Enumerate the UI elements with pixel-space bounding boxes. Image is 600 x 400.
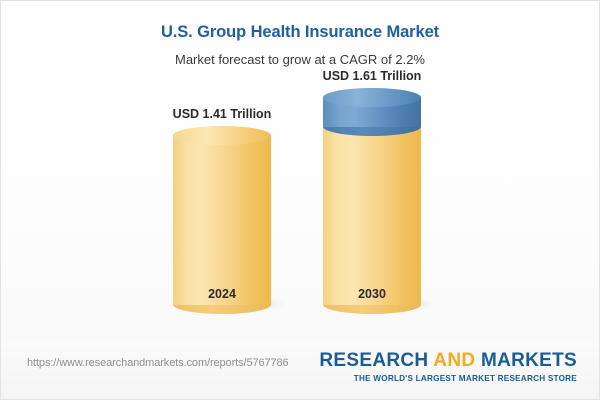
chart-header: U.S. Group Health Insurance Market Marke…: [1, 21, 599, 70]
footer-bar: https://www.researchandmarkets.com/repor…: [1, 341, 599, 399]
bar-segment-base-2030: [323, 127, 421, 305]
cylinder-2030: [323, 97, 421, 305]
chart-plot-area: USD 1.41 Trillion 2024 USD 1.61 Trillion: [1, 89, 600, 341]
cylinder-2024: [173, 135, 271, 305]
chart-title: U.S. Group Health Insurance Market: [1, 21, 599, 43]
logo-word-research: RESEARCH: [319, 350, 433, 371]
bar-segment-base-2024: [173, 135, 271, 305]
infographic-card: U.S. Group Health Insurance Market Marke…: [0, 0, 600, 400]
source-url[interactable]: https://www.researchandmarkets.com/repor…: [27, 357, 289, 369]
logo-wordmark: RESEARCH AND MARKETS: [319, 350, 577, 372]
logo-tagline: THE WORLD'S LARGEST MARKET RESEARCH STOR…: [319, 373, 577, 385]
blue-cap-top-2030: [323, 88, 421, 107]
category-label-2030: 2030: [358, 287, 386, 301]
value-label-2024: USD 1.41 Trillion: [173, 107, 272, 121]
cylinder-body-2024: [173, 135, 271, 305]
logo-word-markets: MARKETS: [475, 350, 577, 371]
logo-word-and: AND: [433, 350, 475, 371]
value-label-2030: USD 1.61 Trillion: [323, 69, 422, 83]
category-label-2024: 2024: [208, 287, 236, 301]
chart-subtitle: Market forecast to grow at a CAGR of 2.2…: [1, 50, 599, 70]
research-and-markets-logo[interactable]: RESEARCH AND MARKETS THE WORLD'S LARGEST…: [319, 350, 577, 385]
bar-segment-growth-2030: [323, 97, 421, 127]
cylinder-top-cap-2024: [173, 126, 271, 145]
cylinder-body-2030: [323, 127, 421, 305]
